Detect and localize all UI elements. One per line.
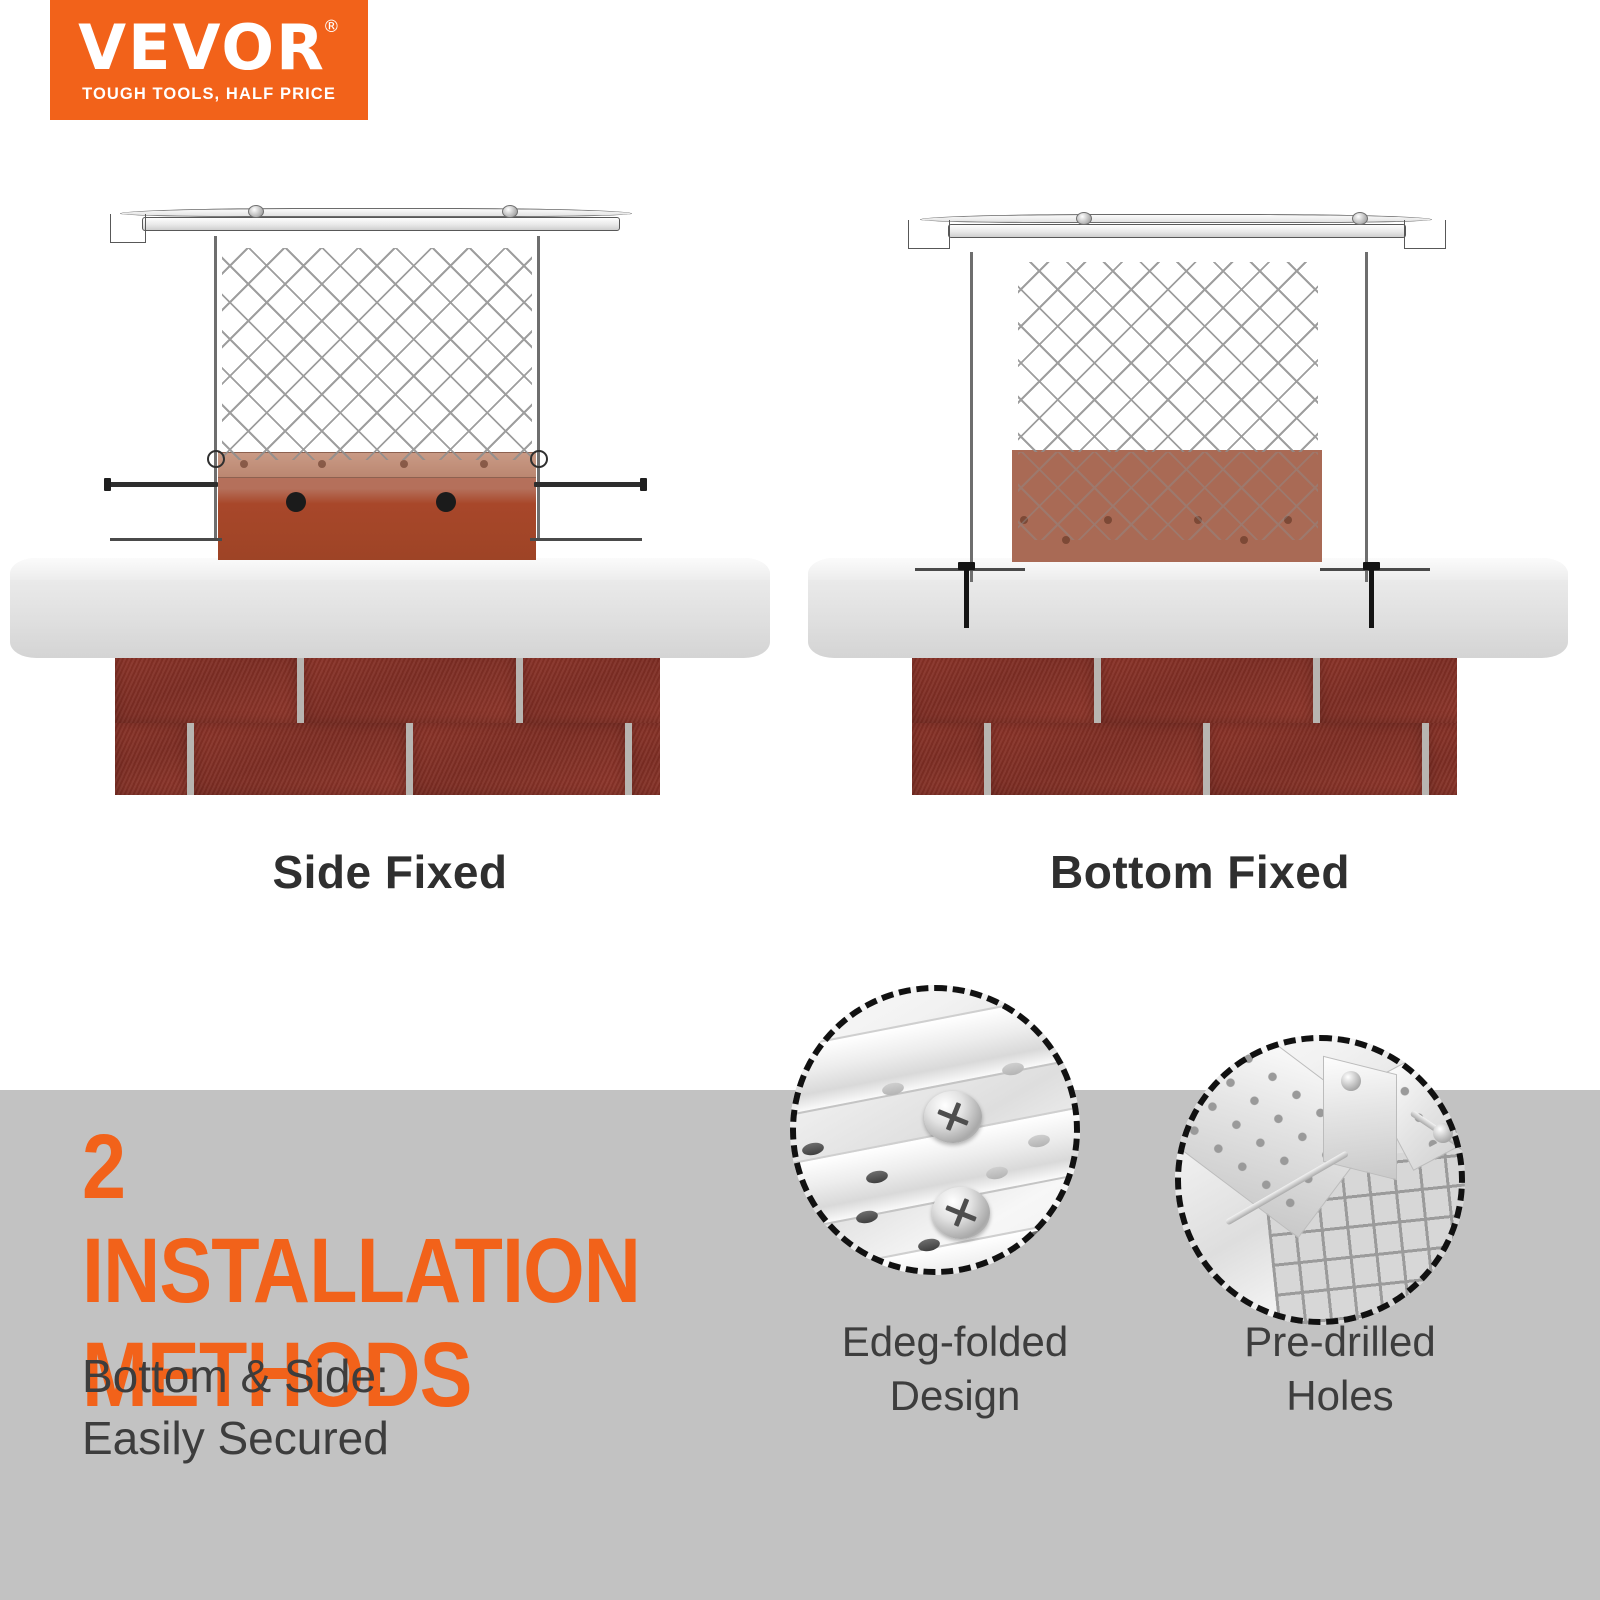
- brand-name: VEVOR: [78, 11, 326, 84]
- lid-screw-icon: [502, 205, 518, 218]
- brand-tagline: TOUGH TOOLS, HALF PRICE: [82, 85, 336, 104]
- bracket-ring: [530, 450, 548, 468]
- detail-photo-edge-folded: [790, 985, 1080, 1275]
- caption-line-1: Edeg-folded: [790, 1315, 1120, 1369]
- lid-screw-icon: [1076, 212, 1092, 225]
- anchor-screw-icon[interactable]: [964, 568, 969, 628]
- side-screw-head-icon: [640, 478, 647, 491]
- diagram-bottom-fixed: [800, 200, 1600, 810]
- promo-subheadline: Bottom & Side: Easily Secured: [82, 1345, 702, 1469]
- brick-wall-icon: [115, 650, 660, 795]
- diagram-label-bottom-fixed: Bottom Fixed: [940, 845, 1460, 899]
- phillips-screw-icon: [924, 1091, 982, 1143]
- chimney-crown-icon: [10, 558, 770, 658]
- flue-rivet: [400, 460, 408, 468]
- caption-line-2: Holes: [1175, 1369, 1505, 1423]
- caption-line-1: Pre-drilled: [1175, 1315, 1505, 1369]
- chimney-crown-icon: [808, 558, 1568, 658]
- cap-leg: [970, 252, 973, 582]
- caption-line-2: Design: [790, 1369, 1120, 1423]
- lid-screw-icon: [1352, 212, 1368, 225]
- flue-rivet: [480, 460, 488, 468]
- cap-leg: [1365, 252, 1368, 582]
- cap-lid: [142, 217, 620, 231]
- diamond-mesh-icon: [1018, 452, 1318, 540]
- infographic-canvas: VEVOR ® TOUGH TOOLS, HALF PRICE: [0, 0, 1600, 1600]
- cap-lid-lip: [908, 220, 950, 249]
- flue-pipe-icon: [218, 452, 536, 560]
- subheadline-line-1: Bottom & Side:: [82, 1345, 702, 1407]
- lid-screw-icon: [248, 205, 264, 218]
- cap-lid-plate: [120, 208, 632, 217]
- detail-caption-edge-folded: Edeg-folded Design: [790, 1315, 1120, 1423]
- crown-top-surface: [10, 558, 770, 580]
- flue-rivet: [318, 460, 326, 468]
- detail-edge-folded: Edeg-folded Design: [790, 985, 1120, 1415]
- leg-base-flange: [110, 538, 222, 541]
- rod-nut-icon: [1341, 1071, 1361, 1091]
- phillips-screw-icon: [932, 1187, 990, 1239]
- cap-lid: [948, 224, 1406, 238]
- flue-rivet: [240, 460, 248, 468]
- registered-trademark-icon: ®: [323, 19, 342, 36]
- flue-screw-icon: [286, 492, 306, 512]
- flue-screw-icon: [436, 492, 456, 512]
- brand-wordmark: VEVOR ®: [78, 17, 340, 79]
- vevor-logo: VEVOR ® TOUGH TOOLS, HALF PRICE: [50, 0, 368, 120]
- subheadline-line-2: Easily Secured: [82, 1407, 702, 1469]
- cap-leg: [537, 236, 540, 541]
- anchor-screw-icon[interactable]: [1369, 568, 1374, 628]
- diagram-label-side-fixed: Side Fixed: [130, 845, 650, 899]
- bracket-ring: [207, 450, 225, 468]
- headline-line-1: 2 INSTALLATION: [82, 1115, 632, 1323]
- detail-pre-drilled: Pre-drilled Holes: [1175, 1035, 1505, 1465]
- cap-leg: [214, 236, 217, 541]
- diagram-side-fixed: [0, 200, 790, 810]
- rod-nut-icon: [1433, 1123, 1453, 1143]
- detail-photo-pre-drilled: [1175, 1035, 1465, 1325]
- diamond-mesh-icon: [222, 248, 532, 460]
- side-screw-icon[interactable]: [534, 482, 644, 487]
- leg-base-flange: [530, 538, 642, 541]
- brick-wall-icon: [912, 650, 1457, 795]
- detail-caption-pre-drilled: Pre-drilled Holes: [1175, 1315, 1505, 1423]
- cap-lid-lip: [110, 214, 146, 243]
- cap-lid-lip: [1404, 220, 1446, 249]
- side-screw-head-icon: [104, 478, 111, 491]
- side-screw-icon[interactable]: [108, 482, 218, 487]
- diamond-mesh-icon: [1018, 262, 1318, 452]
